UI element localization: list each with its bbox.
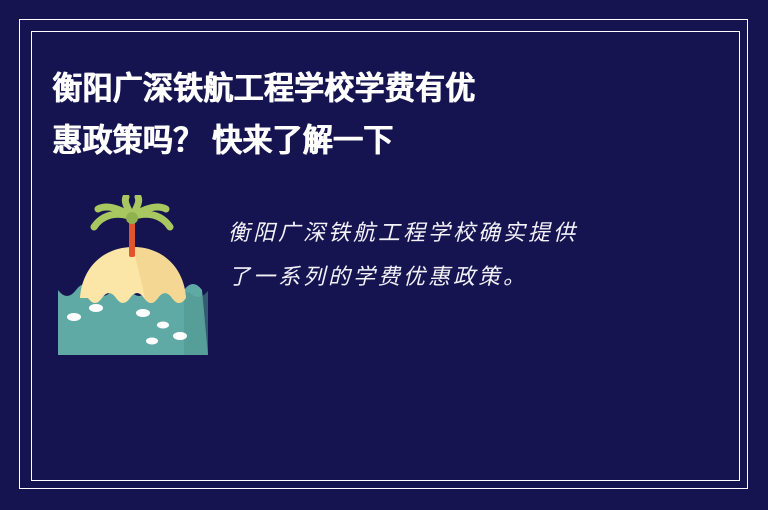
body-text-line-2: 了一系列的学费优惠政策。	[228, 255, 658, 299]
page-title-line-1: 衡阳广深铁航工程学校学费有优	[52, 62, 647, 114]
island-with-palm-tree-icon	[52, 195, 214, 357]
body-text: 衡阳广深铁航工程学校确实提供 了一系列的学费优惠政策。	[228, 211, 658, 299]
promo-card: 衡阳广深铁航工程学校学费有优 惠政策吗？ 快来了解一下	[0, 0, 768, 510]
palm-crown	[126, 212, 138, 224]
page-title: 衡阳广深铁航工程学校学费有优 惠政策吗？ 快来了解一下	[52, 62, 692, 166]
page-title-line-2: 惠政策吗？ 快来了解一下	[52, 114, 647, 166]
body-text-line-1: 衡阳广深铁航工程学校确实提供	[228, 211, 658, 255]
